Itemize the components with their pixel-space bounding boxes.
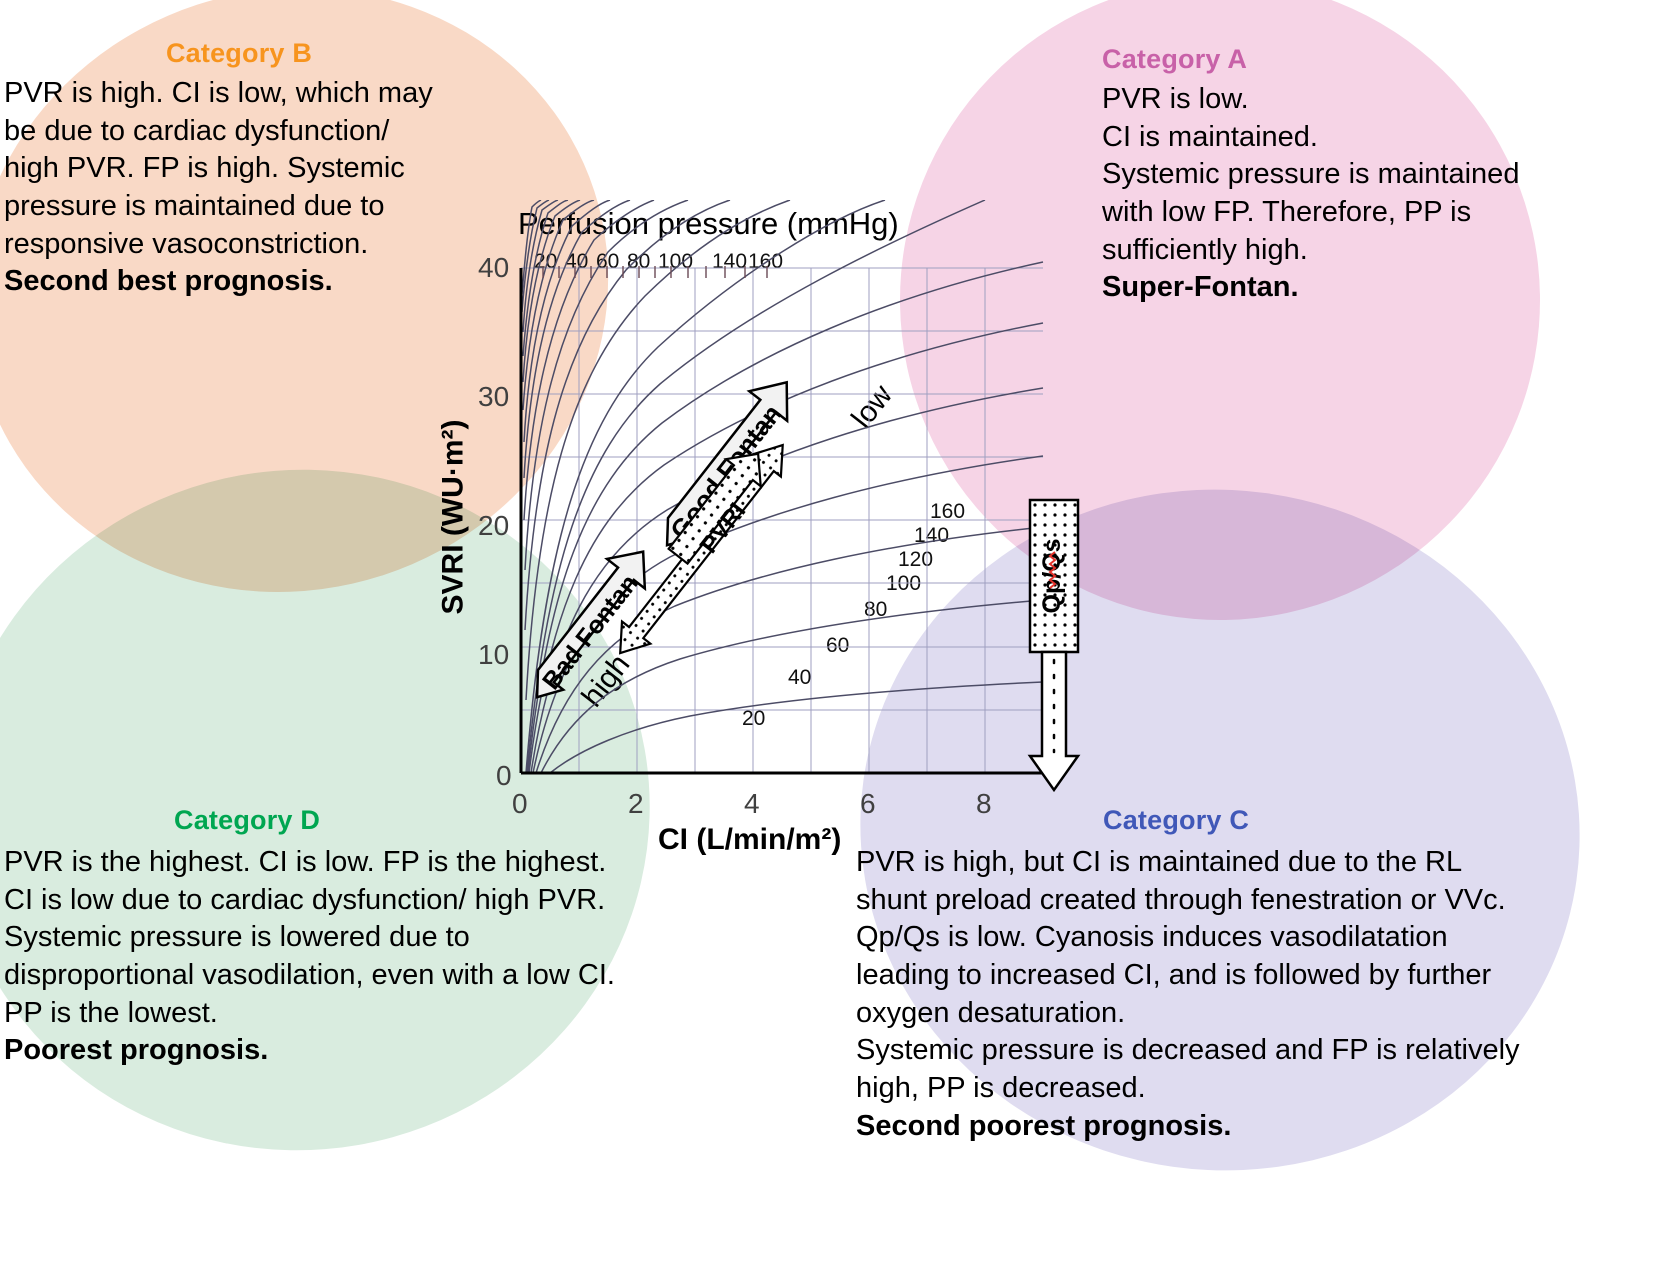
pvri-arrow-annotation: PVRI bbox=[592, 423, 797, 664]
qpqs-arrow-annotation: Qp/Qs bbox=[1030, 500, 1078, 790]
chart-svg: Good Fontan Bad Fontan PVRI Qp/Qs bbox=[430, 200, 1110, 860]
category-a-line: sufficiently high. bbox=[1102, 232, 1650, 270]
category-a-line: Systemic pressure is maintained bbox=[1102, 156, 1650, 194]
category-b-line: pressure is maintained due to bbox=[4, 188, 474, 226]
category-d-line: disproportional vasodilation, even with … bbox=[4, 957, 694, 995]
category-d-line: PP is the lowest. bbox=[4, 995, 694, 1033]
category-c-line: shunt preload created through fenestrati… bbox=[856, 882, 1648, 920]
category-b-line: PVR is high. CI is low, which may bbox=[4, 75, 474, 113]
category-c-title: Category C bbox=[1103, 805, 1648, 836]
category-a-line: with low FP. Therefore, PP is bbox=[1102, 194, 1650, 232]
category-b-body: PVR is high. CI is low, which may be due… bbox=[4, 75, 474, 301]
category-c-line: leading to increased CI, and is followed… bbox=[856, 957, 1648, 995]
category-b-verdict: Second best prognosis. bbox=[4, 265, 333, 297]
perfusion-isopleths bbox=[522, 200, 1043, 773]
category-a-line: PVR is low. bbox=[1102, 81, 1650, 119]
category-c-verdict: Second poorest prognosis. bbox=[856, 1110, 1231, 1142]
category-b-line: be due to cardiac dysfunction/ bbox=[4, 113, 474, 151]
category-c-line: oxygen desaturation. bbox=[856, 995, 1648, 1033]
category-d-line: Systemic pressure is lowered due to bbox=[4, 919, 694, 957]
category-d-body: PVR is the highest. CI is low. FP is the… bbox=[4, 844, 694, 1070]
category-a-verdict: Super-Fontan. bbox=[1102, 271, 1299, 303]
category-b-line: responsive vasoconstriction. bbox=[4, 226, 474, 264]
category-d-line: CI is low due to cardiac dysfunction/ hi… bbox=[4, 882, 694, 920]
category-a-line: CI is maintained. bbox=[1102, 119, 1650, 157]
category-c-body: PVR is high, but CI is maintained due to… bbox=[856, 844, 1648, 1146]
perfusion-pressure-chart: Perfusion pressure (mmHg) 20 40 60 80 10… bbox=[430, 200, 1110, 860]
category-c-line: Qp/Qs is low. Cyanosis induces vasodilat… bbox=[856, 919, 1648, 957]
category-c-line: Systemic pressure is decreased and FP is… bbox=[856, 1032, 1648, 1070]
category-b-line: high PVR. FP is high. Systemic bbox=[4, 150, 474, 188]
chart-grid bbox=[521, 268, 1043, 773]
category-a-block: Category A PVR is low. CI is maintained.… bbox=[1090, 44, 1650, 307]
category-a-title: Category A bbox=[1102, 44, 1650, 75]
category-a-body: PVR is low. CI is maintained. Systemic p… bbox=[1102, 81, 1650, 307]
category-b-title: Category B bbox=[4, 38, 474, 69]
category-b-block: Category B PVR is high. CI is low, which… bbox=[4, 38, 474, 301]
category-c-line: high, PP is decreased. bbox=[856, 1070, 1648, 1108]
category-d-verdict: Poorest prognosis. bbox=[4, 1034, 268, 1066]
qpqs-label: Qp/Qs bbox=[1038, 538, 1066, 613]
